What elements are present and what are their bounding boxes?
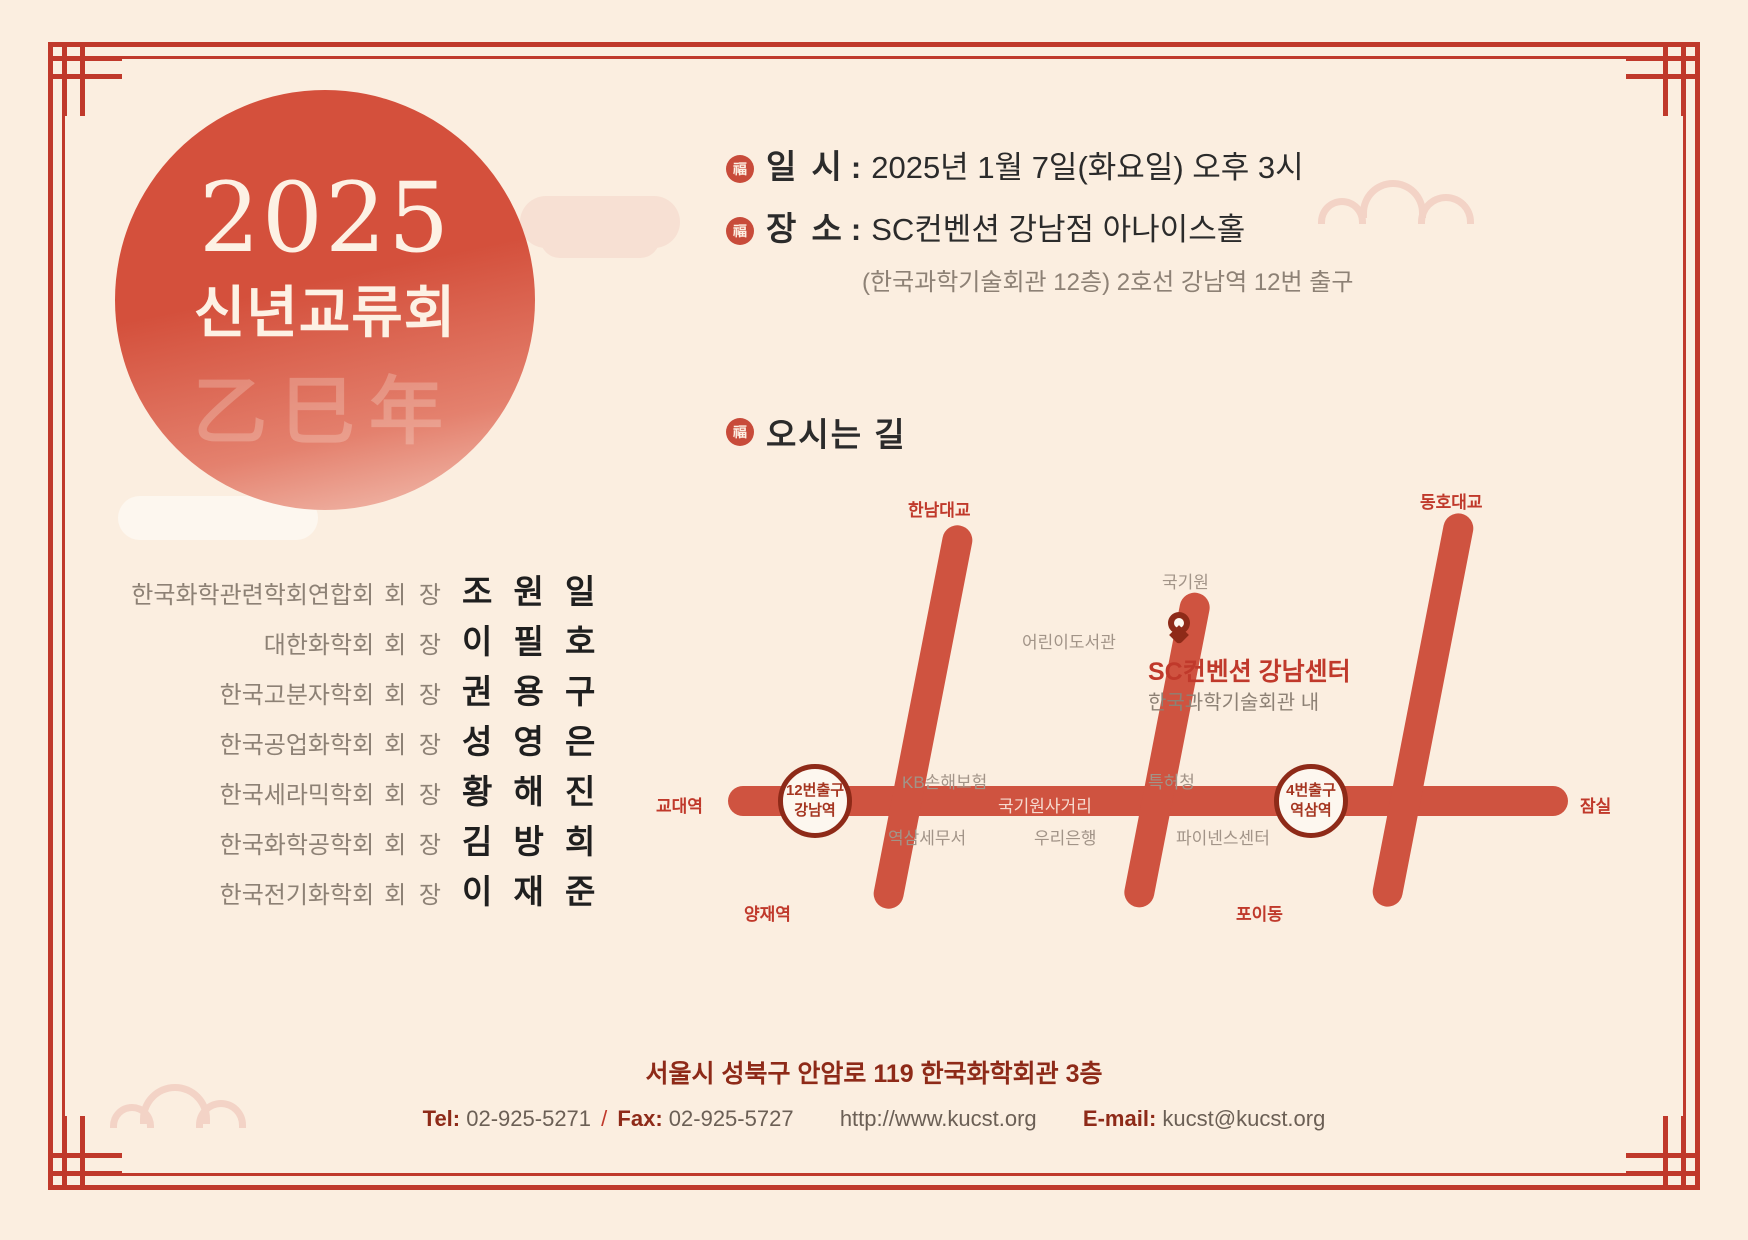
officer-name: 조 원 일 [462,565,590,613]
footer-fax-label: Fax: [617,1106,662,1131]
bok-seal-icon: 福 [726,418,754,446]
footer-fax-value: 02-925-5727 [669,1106,794,1131]
officer-title: 회 장 [384,875,444,910]
event-venue-value: SC컨벤션 강남점 아나이스홀 [871,204,1245,249]
event-date-value: 2025년 1월 7일(화요일) 오후 3시 [871,142,1303,187]
map-label-yangjae-station: 양재역 [744,900,791,925]
station-name-label: 역삼역 [1290,801,1331,821]
event-venue-colon: : [851,212,861,248]
bok-seal-icon: 福 [726,217,754,245]
map-label-patent-office: 특허청 [1148,768,1195,793]
list-item: 한국화학공학회 회 장 김 방 희 [110,815,590,865]
officer-title: 회 장 [384,675,444,710]
officer-title: 회 장 [384,575,444,610]
officer-name: 성 영 은 [462,715,590,763]
map-label-poidong: 포이동 [1236,900,1283,925]
location-map: 한남대교 동호대교 국기원 어린이도서관 KB손해보험 특허청 국기원사거리 역… [640,480,1680,940]
map-label-children-library: 어린이도서관 [1022,628,1116,653]
officer-org: 한국세라믹학회 [220,775,375,810]
officer-org: 한국전기화학회 [220,875,375,910]
footer-email-label: E-mail: [1083,1106,1156,1131]
footer-email-link[interactable]: kucst@kucst.org [1162,1106,1325,1131]
station-name-label: 강남역 [794,801,835,821]
footer-website-link[interactable]: http://www.kucst.org [840,1106,1037,1131]
map-pin-icon [1168,612,1190,642]
footer-tel-value: 02-925-5271 [466,1106,591,1131]
list-item: 한국세라믹학회 회 장 황 해 진 [110,765,590,815]
hero-year: 2025 [115,162,535,274]
footer-address: 서울시 성북구 안암로 119 한국화학회관 3층 [0,1054,1748,1090]
event-venue-label: 장 소 [766,202,845,250]
map-label-woori-bank: 우리은행 [1034,824,1097,849]
hero-title: 신년교류회 [115,268,535,349]
cloud-shape-2 [540,218,660,258]
map-label-finance-center: 파이넨스센터 [1176,824,1270,849]
event-date-colon: : [851,150,861,186]
officer-title: 회 장 [384,825,444,860]
officers-list: 한국화학관련학회연합회 회 장 조 원 일 대한화학회 회 장 이 필 호 한국… [110,565,590,915]
map-label-kb-insurance: KB손해보험 [902,768,987,793]
officer-org: 한국화학관련학회연합회 [131,575,374,610]
event-venue-row: 福 장 소 : SC컨벤션 강남점 아나이스홀 [726,202,1353,250]
map-label-gukgiwon: 국기원 [1162,568,1209,593]
list-item: 한국화학관련학회연합회 회 장 조 원 일 [110,565,590,615]
event-info-block: 福 일 시 : 2025년 1월 7일(화요일) 오후 3시 福 장 소 : S… [726,140,1353,297]
officer-name: 권 용 구 [462,665,590,713]
event-venue-note: (한국과학기술회관 12층) 2호선 강남역 12번 출구 [862,262,1353,297]
map-label-jamsil: 잠실 [1580,792,1611,817]
poster-root: 乙巳年 2025 신년교류회 福 일 시 : 2025년 1월 7일(화요일) … [0,0,1748,1240]
event-date-row: 福 일 시 : 2025년 1월 7일(화요일) 오후 3시 [726,140,1353,188]
map-venue-sub: 한국과학기술회관 내 [1148,686,1319,715]
officer-name: 김 방 희 [462,815,590,863]
officer-org: 대한화학회 [264,625,374,660]
road-diagonal-2 [1122,590,1213,910]
list-item: 한국전기화학회 회 장 이 재 준 [110,865,590,915]
map-label-tax-office: 역삼세무서 [888,824,966,849]
officer-org: 한국고분자학회 [220,675,375,710]
list-item: 한국공업화학회 회 장 성 영 은 [110,715,590,765]
road-diagonal-3 [1370,511,1476,909]
footer-separator: / [601,1106,607,1131]
officer-name: 이 필 호 [462,615,590,663]
list-item: 대한화학회 회 장 이 필 호 [110,615,590,665]
officer-org: 한국공업화학회 [220,725,375,760]
footer: 서울시 성북구 안암로 119 한국화학회관 3층 Tel: 02-925-52… [0,1054,1748,1132]
map-label-gyodae-station: 교대역 [656,792,703,817]
officer-org: 한국화학공학회 [220,825,375,860]
officer-title: 회 장 [384,625,444,660]
list-item: 한국고분자학회 회 장 권 용 구 [110,665,590,715]
corner-ornament-top-left [48,42,122,116]
map-label-gukgiwon-intersection: 국기원사거리 [998,792,1092,817]
map-label-hannam-bridge: 한남대교 [908,496,971,521]
directions-title: 오시는 길 [766,408,907,456]
bok-seal-icon: 福 [726,155,754,183]
event-date-label: 일 시 [766,140,845,188]
hero-circle: 乙巳年 2025 신년교류회 [115,90,535,510]
footer-tel-label: Tel: [423,1106,460,1131]
station-exit-label: 4번출구 [1286,781,1336,801]
officer-title: 회 장 [384,725,444,760]
station-yeoksam[interactable]: 4번출구 역삼역 [1274,764,1348,838]
map-venue-name: SC컨벤션 강남센터 [1148,652,1351,688]
officer-name: 황 해 진 [462,765,590,813]
corner-ornament-top-right [1626,42,1700,116]
map-label-dongho-bridge: 동호대교 [1420,488,1483,513]
officer-title: 회 장 [384,775,444,810]
road-diagonal-1 [871,523,975,912]
footer-contact-line: Tel: 02-925-5271 / Fax: 02-925-5727 http… [0,1106,1748,1132]
station-gangnam[interactable]: 12번출구 강남역 [778,764,852,838]
directions-heading: 福 오시는 길 [726,408,907,456]
hero-watermark-year: 乙巳年 [115,352,535,459]
station-exit-label: 12번출구 [786,781,844,801]
officer-name: 이 재 준 [462,865,590,913]
